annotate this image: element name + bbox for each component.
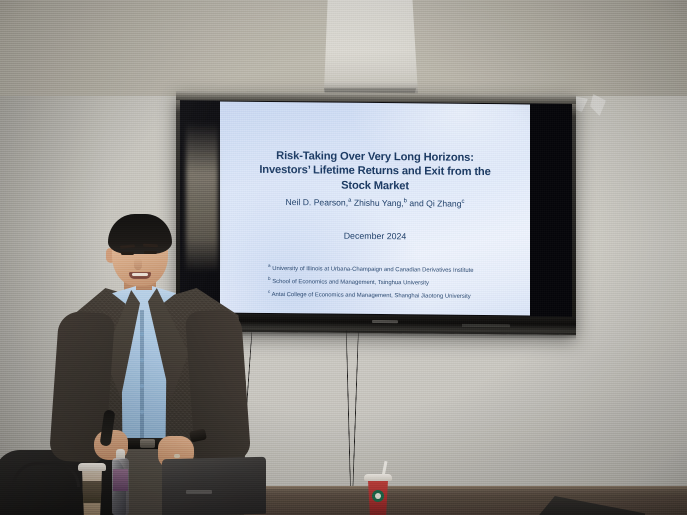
slide-title: Risk-Taking Over Very Long Horizons: Inv… (236, 102, 514, 195)
author-first: Neil D. Pearson, (286, 197, 349, 208)
coffee-cup-right (364, 470, 392, 515)
cup-lid (364, 474, 392, 481)
presenter-eye-left (121, 252, 134, 255)
presenter-shirt-placket (140, 310, 144, 438)
coffee-cup-left (78, 459, 106, 515)
ceiling-mounted-projector-box (322, 0, 418, 94)
tv-brand-logo (372, 320, 398, 323)
shirt-button (140, 332, 144, 336)
slide-title-line-1: Risk-Taking Over Very Long Horizons: (276, 150, 474, 164)
presenter-nose (134, 258, 142, 270)
coffee-logo-inner (375, 493, 381, 499)
affiliation-text-c: Antai College of Economics and Managemen… (272, 292, 471, 300)
slide-title-line-2: Investors’ Lifetime Returns and Exit fro… (259, 164, 490, 178)
water-bottle (112, 449, 129, 515)
slide-authors: Neil D. Pearson,a Zhishu Yang,b and Qi Z… (236, 195, 514, 211)
author-third: and Qi Zhang (407, 198, 461, 209)
tv-ir-sensor-strip (462, 324, 510, 327)
slide-title-line-3: Stock Market (341, 179, 409, 192)
affiliation-item: c Antai College of Economics and Managem… (268, 288, 474, 301)
shirt-button (140, 410, 144, 414)
presenter-hair (108, 214, 172, 254)
cup-sleeve (81, 481, 103, 503)
shirt-button (140, 384, 144, 388)
laptop-logo (186, 490, 212, 494)
slide-date: December 2024 (236, 230, 514, 243)
presenter-belt-buckle (140, 439, 155, 448)
presenter-teeth (132, 273, 148, 276)
author-c-marker: c (461, 199, 464, 205)
cup-lid (78, 463, 106, 471)
author-second: Zhishu Yang, (351, 198, 403, 209)
presenter-ring (174, 454, 180, 458)
shirt-button (140, 358, 144, 362)
affiliation-text-b: School of Economics and Management, Tsin… (272, 279, 429, 287)
laptop[interactable] (162, 457, 266, 515)
slide-affiliations: a University of Illinois at Urbana-Champ… (268, 262, 474, 303)
presentation-room-photo: ‹ Risk-Taking Over Very Long Horizons: I… (0, 0, 687, 515)
affiliation-item: a University of Illinois at Urbana-Champ… (268, 262, 474, 275)
affiliation-item: b School of Economics and Management, Ts… (268, 275, 474, 288)
affiliation-text-a: University of Illinois at Urbana-Champai… (272, 266, 473, 274)
bottle-label (113, 469, 128, 491)
presenter-eye-right (144, 251, 157, 254)
